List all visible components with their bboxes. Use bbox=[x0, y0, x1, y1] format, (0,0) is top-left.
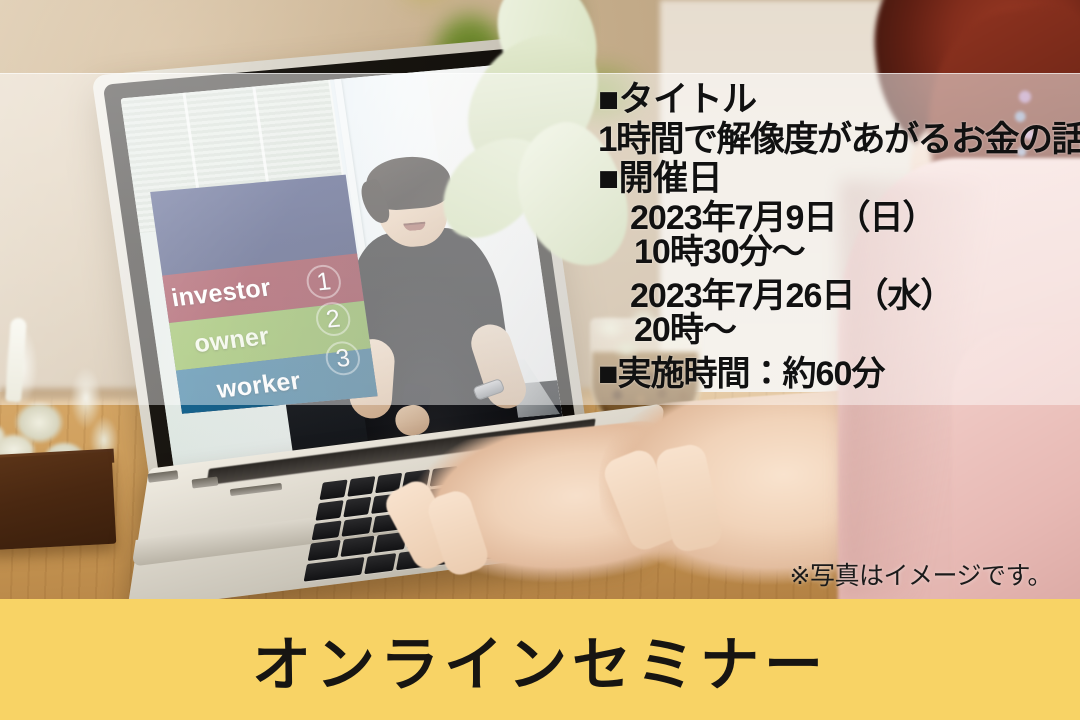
slide-bar-label: worker bbox=[169, 366, 303, 409]
keyboard-key[interactable] bbox=[342, 516, 372, 537]
session-2-time: 20時〜 bbox=[598, 313, 1068, 347]
title-heading: ■タイトル bbox=[598, 82, 1068, 117]
overlay-top-edge bbox=[0, 73, 1080, 74]
photo-scene: investor owner worker 1 2 3 bbox=[0, 0, 1080, 601]
bottom-banner: オンラインセミナー bbox=[0, 599, 1080, 720]
keyboard-key[interactable] bbox=[308, 540, 341, 561]
keyboard-key[interactable] bbox=[312, 520, 342, 541]
keyboard-key[interactable] bbox=[319, 480, 347, 500]
slide-bar-label: owner bbox=[162, 322, 271, 363]
duration-line: ■実施時間：約60分 bbox=[598, 357, 1068, 391]
seminar-details: ■タイトル 1時間で解像度があがるお金の話 ■開催日 2023年7月9日（日） … bbox=[598, 82, 1068, 391]
keyboard-key[interactable] bbox=[347, 476, 375, 496]
date-heading: ■開催日 bbox=[598, 161, 1068, 196]
session-1-time: 10時30分〜 bbox=[598, 235, 1068, 269]
keyboard-key[interactable] bbox=[343, 497, 371, 517]
image-disclaimer-note: ※写真はイメージです。 bbox=[790, 556, 1052, 592]
presentation-slide: investor owner worker 1 2 3 bbox=[150, 175, 377, 414]
seminar-title: 1時間で解像度があがるお金の話 bbox=[598, 122, 1068, 157]
slide-bar-label: investor bbox=[155, 273, 273, 314]
session-1-date: 2023年7月9日（日） bbox=[598, 201, 1068, 235]
keyboard-key[interactable] bbox=[341, 536, 374, 557]
keyboard-key[interactable] bbox=[316, 500, 344, 520]
session-2-date: 2023年7月26日（水） bbox=[598, 279, 1068, 313]
seminar-poster: investor owner worker 1 2 3 bbox=[0, 0, 1080, 720]
banner-label: オンラインセミナー bbox=[252, 617, 828, 702]
